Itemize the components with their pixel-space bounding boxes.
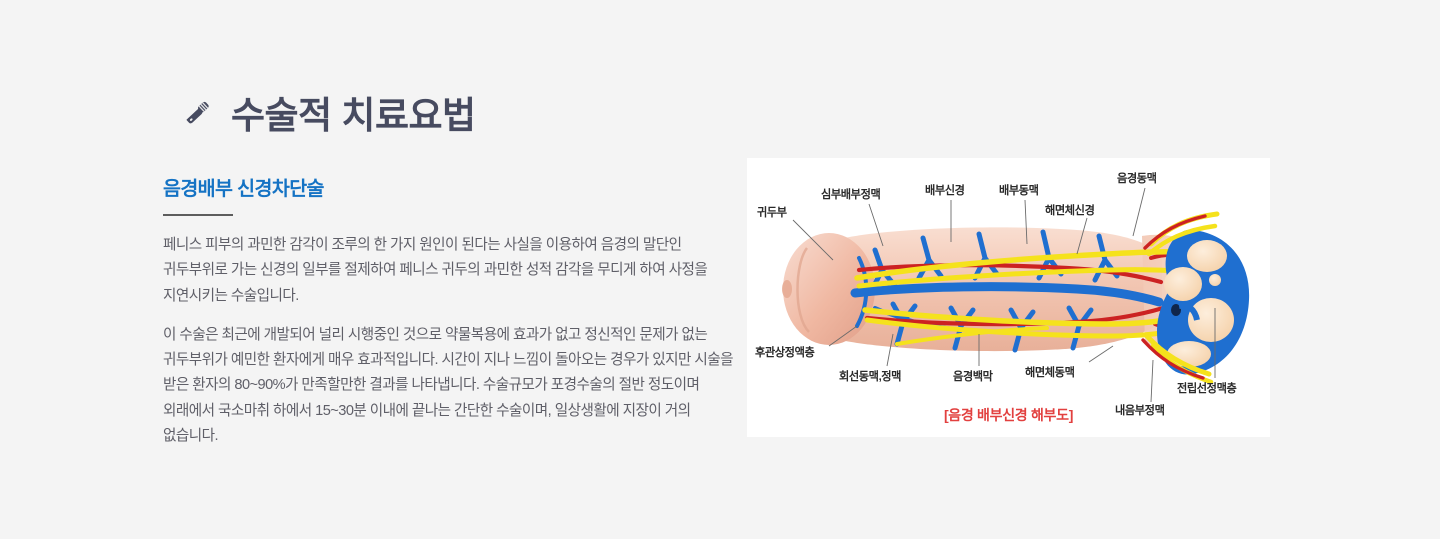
figure-label: 배부신경 [925, 183, 965, 197]
anatomy-diagram: 귀두부 심부배부정맥 배부신경 배부동맥 음경동맥 해면체신경 후관상정액층 회… [747, 158, 1270, 437]
figure-label: 해면체신경 [1045, 203, 1095, 217]
figure-label: 음경백막 [953, 369, 994, 383]
figure-label: 음경동맥 [1117, 171, 1157, 185]
figure-label: 전립선정맥층 [1177, 381, 1236, 395]
section-heading: 음경배부 신경차단술 [163, 178, 733, 201]
figure-label: 회선동맥,정맥 [839, 369, 901, 383]
figure-label: 후관상정액층 [755, 345, 814, 359]
page-root: 수술적 치료요법 음경배부 신경차단술 페니스 피부의 과민한 감각이 조루의 … [0, 0, 1440, 539]
figure-label: 배부동맥 [999, 183, 1039, 197]
heading-divider [163, 214, 233, 216]
figure-label: 해면체동맥 [1025, 365, 1075, 379]
scalpel-icon [163, 90, 213, 140]
anatomy-figure-panel: 귀두부 심부배부정맥 배부신경 배부동맥 음경동맥 해면체신경 후관상정액층 회… [747, 158, 1270, 437]
figure-caption: [음경 배부신경 해부도] [747, 405, 1270, 425]
figure-label: 귀두부 [757, 205, 787, 219]
body-text: 페니스 피부의 과민한 감각이 조루의 한 가지 원인이 된다는 사실을 이용하… [163, 233, 733, 448]
paragraph-1: 페니스 피부의 과민한 감각이 조루의 한 가지 원인이 된다는 사실을 이용하… [163, 233, 733, 308]
page-header: 수술적 치료요법 [163, 84, 733, 146]
page-title: 수술적 치료요법 [231, 97, 476, 134]
figure-label: 심부배부정맥 [821, 187, 880, 201]
paragraph-2: 이 수술은 최근에 개발되어 널리 시행중인 것으로 약물복용에 효과가 없고 … [163, 323, 733, 448]
content-column: 수술적 치료요법 음경배부 신경차단술 페니스 피부의 과민한 감각이 조루의 … [163, 84, 733, 463]
